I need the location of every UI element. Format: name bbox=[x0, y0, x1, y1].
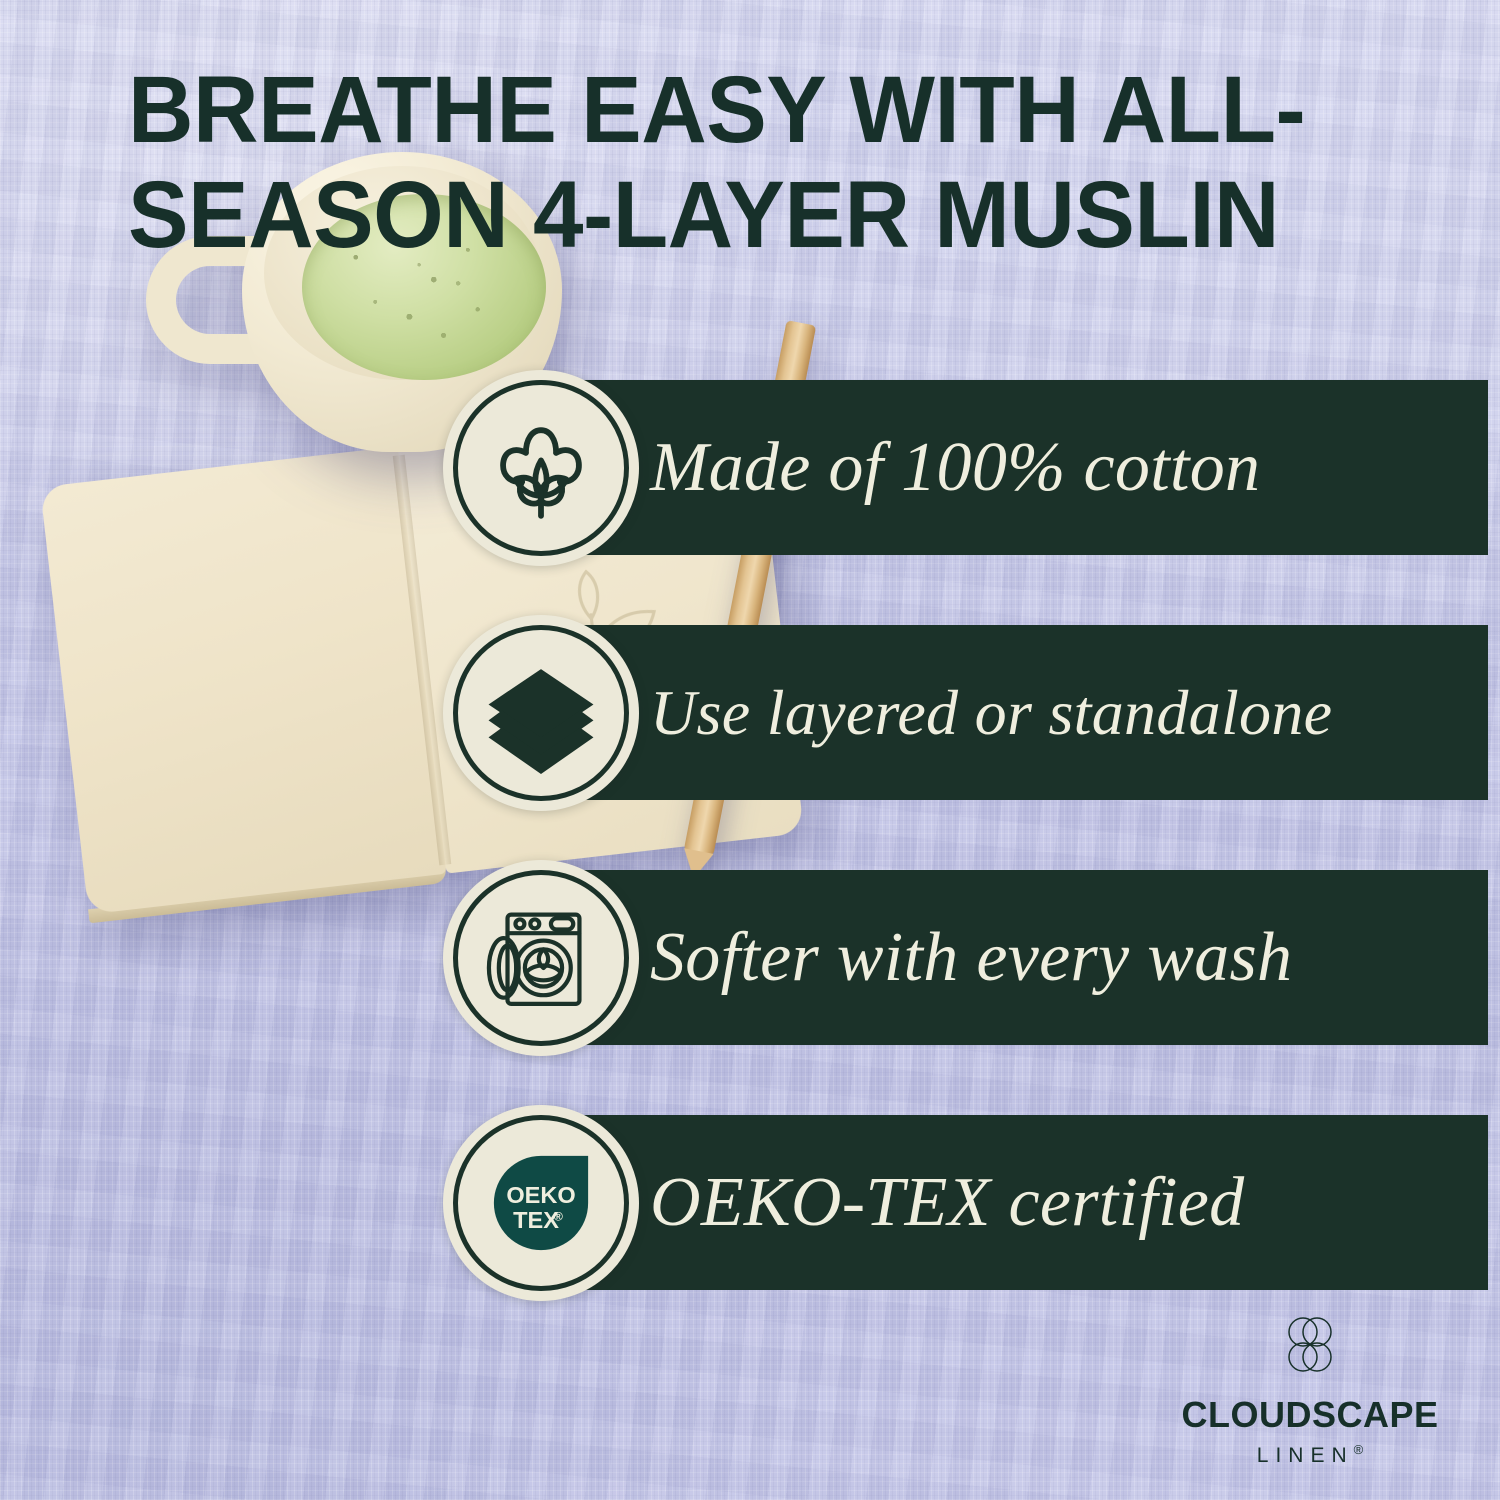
feature-bar: Softer with every wash bbox=[530, 870, 1488, 1045]
feature-list: Made of 100% cotton Use layered bbox=[0, 380, 1500, 1360]
headline-line-2: SEASON 4-LAYER MUSLIN bbox=[128, 162, 1279, 268]
feature-label: Made of 100% cotton bbox=[650, 433, 1260, 503]
headline-line-1: BREATHE EASY WITH ALL- bbox=[128, 57, 1305, 163]
quatrefoil-circles-logo-icon bbox=[1279, 1311, 1341, 1385]
brand-logo: CLOUDSCAPE LINEN® bbox=[1180, 1311, 1440, 1466]
feature-label: Use layered or standalone bbox=[650, 681, 1332, 745]
page-title: BREATHE EASY WITH ALL- SEASON 4-LAYER MU… bbox=[128, 58, 1331, 267]
brand-name: CLOUDSCAPE bbox=[1180, 1397, 1440, 1433]
feature-bar: Made of 100% cotton bbox=[530, 380, 1488, 555]
feature-bar: Use layered or standalone bbox=[530, 625, 1488, 800]
cotton-boll-icon bbox=[443, 370, 639, 566]
oeko-text-line2: TEX bbox=[513, 1207, 559, 1233]
feature-label: OEKO-TEX certified bbox=[650, 1168, 1244, 1238]
brand-registered-mark: ® bbox=[1354, 1442, 1364, 1457]
feature-row: Use layered or standalone bbox=[0, 625, 1500, 800]
feature-label: Softer with every wash bbox=[650, 923, 1292, 993]
stacked-layers-icon bbox=[443, 615, 639, 811]
brand-subtitle-text: LINEN bbox=[1257, 1444, 1354, 1467]
oeko-tex-badge-icon: OEKO TEX ® bbox=[443, 1105, 639, 1301]
feature-row: OEKO-TEX certified OEKO TEX ® bbox=[0, 1115, 1500, 1290]
oeko-text-line1: OEKO bbox=[506, 1182, 575, 1208]
feature-row: Softer with every wash bbox=[0, 870, 1500, 1045]
oeko-registered-mark: ® bbox=[554, 1209, 563, 1223]
brand-subtitle: LINEN® bbox=[1180, 1443, 1440, 1466]
feature-bar: OEKO-TEX certified bbox=[530, 1115, 1488, 1290]
feature-row: Made of 100% cotton bbox=[0, 380, 1500, 555]
infographic-canvas: BREATHE EASY WITH ALL- SEASON 4-LAYER MU… bbox=[0, 0, 1500, 1500]
washing-machine-icon bbox=[443, 860, 639, 1056]
